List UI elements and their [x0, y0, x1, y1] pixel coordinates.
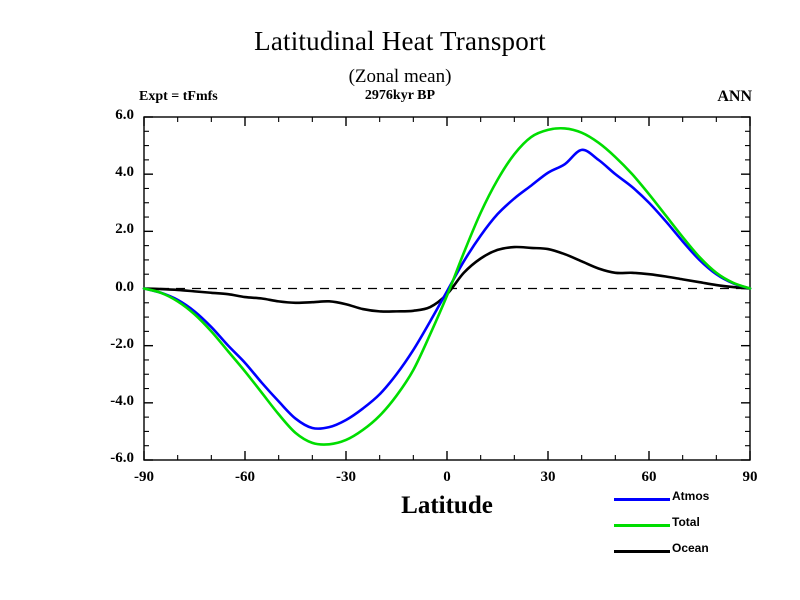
legend-color-swatch	[614, 498, 670, 501]
legend-color-swatch	[614, 550, 670, 553]
y-tick-label: -6.0	[52, 450, 134, 467]
legend-label: Ocean	[672, 541, 709, 555]
x-tick-label: -60	[205, 469, 285, 486]
series-line-total	[144, 128, 750, 444]
legend-item: Ocean	[614, 539, 794, 565]
series-line-ocean	[144, 247, 750, 312]
y-tick-label: 2.0	[52, 221, 134, 238]
y-tick-label: 0.0	[52, 279, 134, 296]
y-tick-label: 6.0	[52, 107, 134, 124]
series-line-atmos	[144, 150, 750, 429]
y-tick-label: 4.0	[52, 164, 134, 181]
legend-item: Total	[614, 513, 794, 539]
legend-label: Atmos	[672, 489, 709, 503]
chart-figure: Latitudinal Heat Transport (Zonal mean) …	[0, 0, 800, 600]
legend-item: Atmos	[614, 487, 794, 513]
x-tick-label: -90	[104, 469, 184, 486]
x-tick-label: 30	[508, 469, 588, 486]
y-tick-label: -4.0	[52, 393, 134, 410]
x-tick-label: -30	[306, 469, 386, 486]
y-tick-label: -2.0	[52, 336, 134, 353]
x-tick-label: 60	[609, 469, 689, 486]
legend-label: Total	[672, 515, 700, 529]
legend-color-swatch	[614, 524, 670, 527]
x-tick-label: 90	[710, 469, 790, 486]
chart-legend: AtmosTotalOcean	[614, 487, 794, 565]
x-tick-label: 0	[407, 469, 487, 486]
